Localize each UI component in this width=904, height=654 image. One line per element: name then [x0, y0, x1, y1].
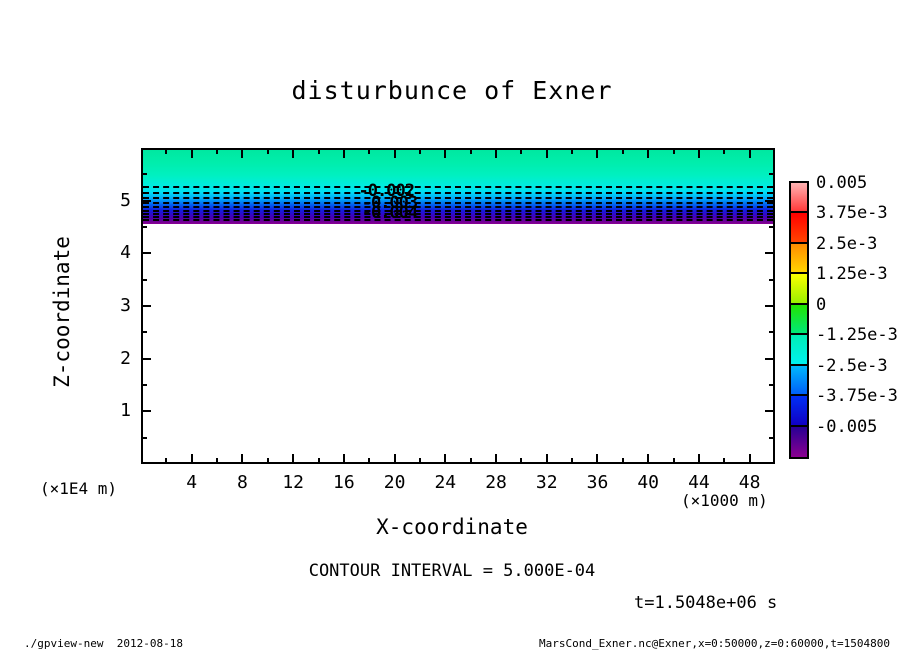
footer-source-label: MarsCond_Exner.nc@Exner,x=0:50000,z=0:60… — [539, 637, 890, 650]
x-tick-label: 36 — [572, 472, 622, 493]
x-tick-minor-top — [318, 148, 320, 154]
x-tick-minor — [470, 458, 472, 464]
x-tick-minor-top — [622, 148, 624, 154]
x-tick-label: 48 — [725, 472, 775, 493]
contour-line — [143, 210, 773, 212]
y-tick-major-right — [765, 358, 775, 360]
x-tick-label: 16 — [319, 472, 369, 493]
contour-line — [143, 186, 773, 188]
x-tick-major — [596, 454, 598, 464]
y-tick-label: 4 — [101, 242, 131, 263]
y-tick-minor-right — [769, 279, 775, 281]
x-tick-label: 4 — [167, 472, 217, 493]
x-tick-minor-top — [165, 148, 167, 154]
x-tick-major-top — [444, 148, 446, 158]
x-tick-label: 8 — [217, 472, 267, 493]
x-tick-minor-top — [723, 148, 725, 154]
x-tick-major — [698, 454, 700, 464]
y-tick-major-right — [765, 410, 775, 412]
y-axis-units-label: (×1E4 m) — [40, 479, 117, 498]
y-tick-major — [141, 252, 151, 254]
colorbar-band — [791, 183, 807, 213]
y-tick-minor-right — [769, 173, 775, 175]
x-tick-minor — [318, 458, 320, 464]
colorbar-tick-label: 3.75e-3 — [816, 203, 888, 223]
x-tick-major-top — [596, 148, 598, 158]
x-tick-minor — [520, 458, 522, 464]
y-tick-label: 1 — [101, 400, 131, 421]
colorbar-tick-label: -0.005 — [816, 417, 877, 437]
x-tick-minor — [723, 458, 725, 464]
y-tick-minor — [141, 331, 147, 333]
colorbar-band — [791, 274, 807, 304]
figure-canvas: disturbunce of Exner -0.002-0.003-0.004 … — [0, 0, 904, 654]
y-tick-label: 2 — [101, 348, 131, 369]
y-tick-major-right — [765, 305, 775, 307]
x-tick-minor — [267, 458, 269, 464]
colorbar-band — [791, 244, 807, 274]
x-tick-minor-top — [571, 148, 573, 154]
colorbar-tick-label: -3.75e-3 — [816, 386, 898, 406]
y-tick-major — [141, 410, 151, 412]
y-tick-label: 3 — [101, 295, 131, 316]
x-tick-minor-top — [368, 148, 370, 154]
colorbar-band — [791, 427, 807, 457]
x-tick-major — [292, 454, 294, 464]
x-tick-major — [191, 454, 193, 464]
colorbar-band — [791, 396, 807, 426]
plot-area: -0.002-0.003-0.004 — [141, 148, 775, 464]
y-tick-minor — [141, 279, 147, 281]
x-tick-label: 40 — [623, 472, 673, 493]
x-tick-minor — [673, 458, 675, 464]
x-tick-minor-top — [216, 148, 218, 154]
y-tick-major-right — [765, 252, 775, 254]
contour-line — [143, 202, 773, 204]
contour-line — [143, 192, 773, 194]
y-tick-minor — [141, 384, 147, 386]
x-tick-major-top — [343, 148, 345, 158]
x-tick-label: 32 — [522, 472, 572, 493]
contour-line — [143, 213, 773, 215]
x-tick-major-top — [749, 148, 751, 158]
x-tick-major — [343, 454, 345, 464]
x-tick-major-top — [292, 148, 294, 158]
y-tick-minor-right — [769, 331, 775, 333]
y-tick-minor — [141, 437, 147, 439]
x-tick-label: 24 — [420, 472, 470, 493]
x-axis-units-label: (×1000 m) — [681, 491, 768, 510]
x-tick-minor — [419, 458, 421, 464]
x-tick-major-top — [394, 148, 396, 158]
colorbar — [789, 181, 809, 459]
colorbar-tick-label: 0 — [816, 295, 826, 315]
y-tick-major — [141, 305, 151, 307]
y-tick-major — [141, 200, 151, 202]
x-tick-major-top — [191, 148, 193, 158]
x-tick-minor-top — [673, 148, 675, 154]
y-tick-label: 5 — [101, 190, 131, 211]
x-tick-major — [241, 454, 243, 464]
contour-line — [143, 206, 773, 208]
y-tick-minor-right — [769, 226, 775, 228]
x-tick-minor — [165, 458, 167, 464]
time-annotation: t=1.5048e+06 s — [634, 593, 777, 613]
y-tick-major — [141, 358, 151, 360]
x-tick-minor — [571, 458, 573, 464]
x-tick-minor-top — [267, 148, 269, 154]
colorbar-tick-label: 2.5e-3 — [816, 234, 877, 254]
x-tick-major — [647, 454, 649, 464]
footer-command-label: ./gpview-new 2012-08-18 — [24, 637, 183, 650]
x-axis-title: X-coordinate — [0, 515, 904, 539]
x-tick-minor-top — [470, 148, 472, 154]
x-tick-major — [546, 454, 548, 464]
colorbar-band — [791, 213, 807, 243]
y-tick-minor-right — [769, 384, 775, 386]
x-tick-label: 12 — [268, 472, 318, 493]
y-tick-minor — [141, 173, 147, 175]
x-tick-major — [749, 454, 751, 464]
y-axis-title: Z-coordinate — [50, 202, 74, 422]
x-tick-major — [495, 454, 497, 464]
x-tick-minor-top — [419, 148, 421, 154]
contour-interval-annotation: CONTOUR INTERVAL = 5.000E-04 — [0, 561, 904, 581]
x-tick-major — [444, 454, 446, 464]
colorbar-band — [791, 366, 807, 396]
colorbar-tick-label: 1.25e-3 — [816, 264, 888, 284]
contour-line — [143, 219, 773, 221]
y-tick-major-right — [765, 200, 775, 202]
x-tick-major-top — [647, 148, 649, 158]
colorbar-tick-label: -1.25e-3 — [816, 325, 898, 345]
colorbar-tick-label: -2.5e-3 — [816, 356, 888, 376]
contour-value-label: -0.004 — [362, 203, 417, 223]
x-tick-minor — [622, 458, 624, 464]
x-tick-label: 28 — [471, 472, 521, 493]
contour-line — [143, 216, 773, 218]
x-tick-minor — [368, 458, 370, 464]
x-tick-label: 44 — [674, 472, 724, 493]
x-tick-major-top — [241, 148, 243, 158]
x-tick-minor-top — [520, 148, 522, 154]
x-tick-major — [394, 454, 396, 464]
x-tick-major-top — [546, 148, 548, 158]
plot-data-region: -0.002-0.003-0.004 — [143, 150, 773, 462]
y-tick-minor — [141, 226, 147, 228]
y-tick-minor-right — [769, 437, 775, 439]
page-title: disturbunce of Exner — [0, 76, 904, 105]
x-tick-label: 20 — [370, 472, 420, 493]
contour-line — [143, 197, 773, 199]
x-tick-major-top — [495, 148, 497, 158]
colorbar-tick-label: 0.005 — [816, 173, 867, 193]
colorbar-band — [791, 335, 807, 365]
x-tick-minor — [216, 458, 218, 464]
colorbar-band — [791, 305, 807, 335]
x-tick-major-top — [698, 148, 700, 158]
